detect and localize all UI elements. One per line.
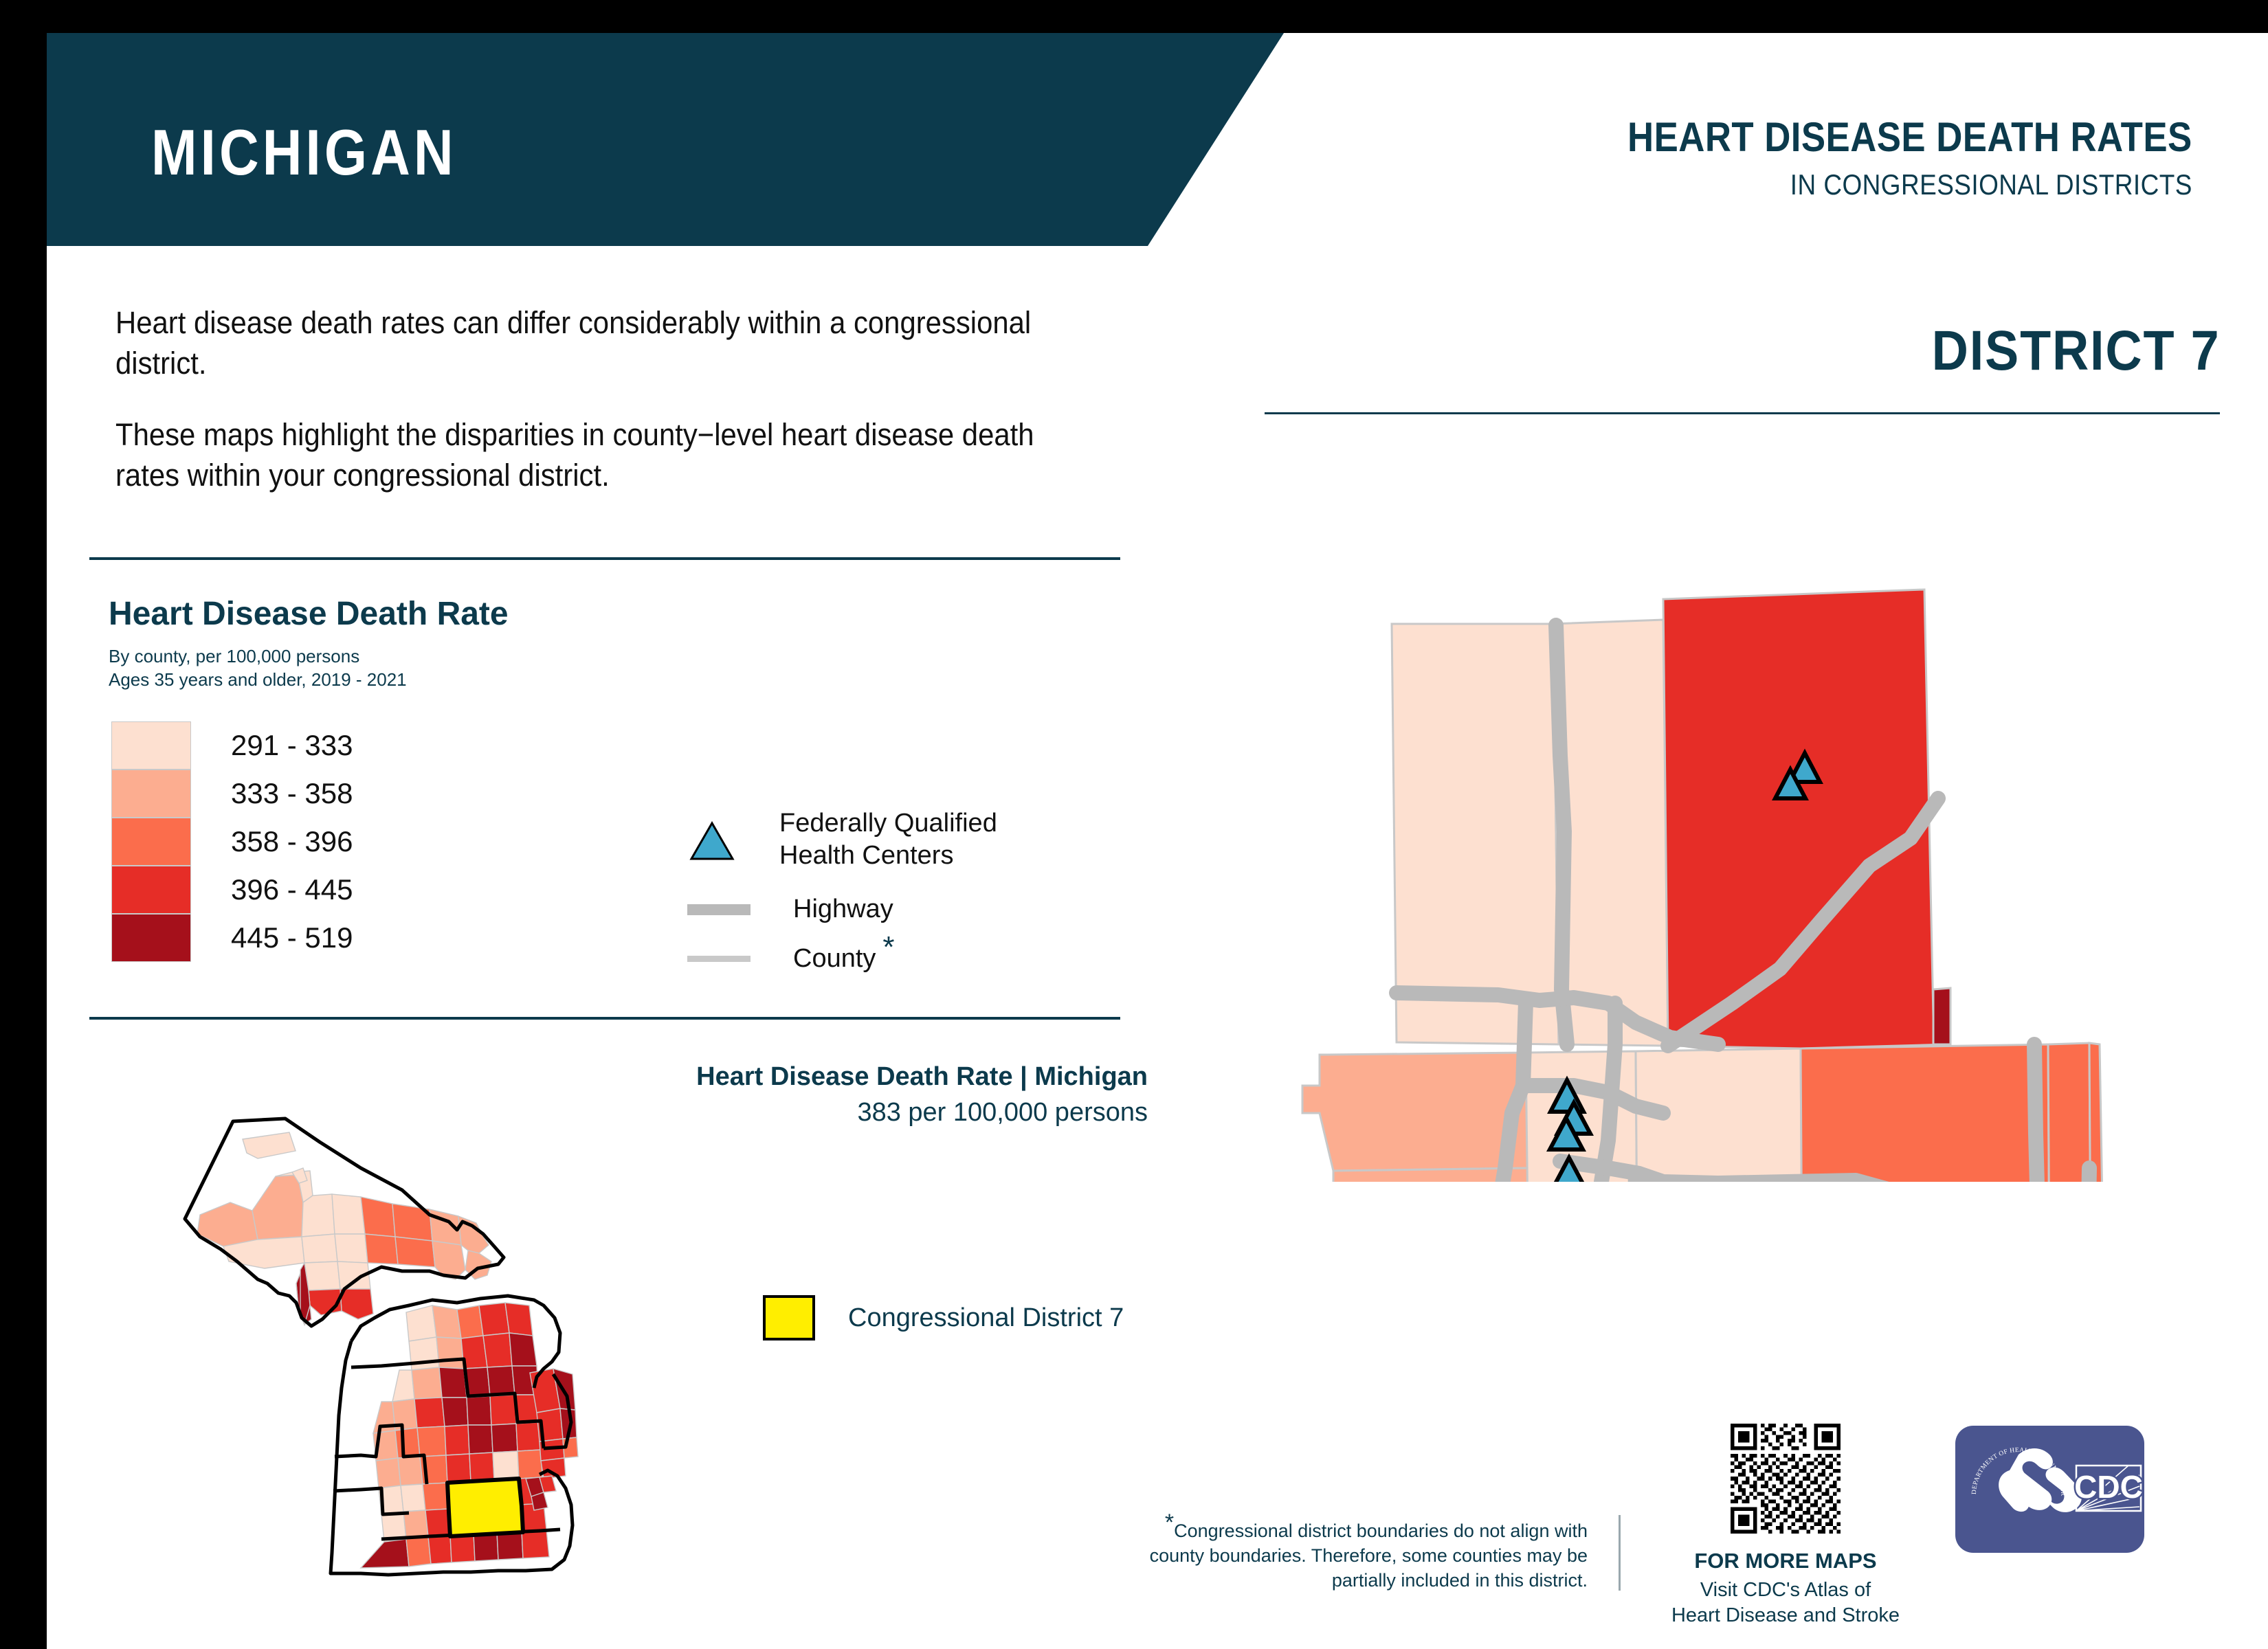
frame-left-bar <box>0 0 47 1649</box>
legend-subtitle-line-2: Ages 35 years and older, 2019 - 2021 <box>109 668 407 691</box>
county-polygon <box>406 1536 431 1567</box>
svg-text:CDC: CDC <box>2074 1469 2143 1505</box>
hhs-cdc-logo: DEPARTMENT OF HEALTH & HUMAN SERVICES·US… <box>1955 1426 2144 1553</box>
county-polygon <box>483 1333 512 1367</box>
legend-highway-label: Highway <box>793 893 893 926</box>
county-polygon <box>468 1425 493 1454</box>
county-polygon <box>332 1194 365 1234</box>
county-polygon <box>516 1422 541 1451</box>
state-rate-title: Heart Disease Death Rate | Michigan <box>696 1064 1148 1090</box>
legend-subtitle-line-1: By county, per 100,000 persons <box>109 644 407 668</box>
footnote-star-icon: * <box>882 930 894 964</box>
county-polygon <box>398 1457 423 1485</box>
county-polygon <box>401 1484 425 1512</box>
legend-county-label: County* <box>793 943 895 975</box>
state-name: MICHIGAN <box>151 120 457 185</box>
county-polygon <box>409 1337 439 1370</box>
county-polygon <box>541 1458 566 1479</box>
footnote-divider <box>1619 1515 1621 1591</box>
legend-swatch-list: 291 - 333 333 - 358 358 - 396 396 - 445 … <box>111 721 353 962</box>
county-polygon <box>340 1289 373 1319</box>
legend-fqhc-line-1: Federally Qualified <box>779 809 997 838</box>
legend-swatch-label: 396 - 445 <box>231 875 353 904</box>
divider-bottom <box>89 1017 1120 1020</box>
county-polygon <box>335 1234 368 1263</box>
county-polygon <box>2048 1043 2092 1182</box>
for-more-maps-line-2: Heart Disease and Stroke <box>1655 1603 1916 1628</box>
county-polygon <box>423 1483 449 1510</box>
county-polygon <box>487 1366 515 1396</box>
district-map[interactable] <box>1251 563 2213 1182</box>
page-title: HEART DISEASE DEATH RATES <box>1627 117 2192 158</box>
state-rate-value: 383 per 100,000 persons <box>857 1099 1148 1125</box>
county-polygon <box>302 1234 337 1263</box>
county-polygon <box>491 1424 518 1452</box>
legend-swatch-row: 358 - 396 <box>111 818 353 866</box>
county-polygon <box>417 1426 446 1457</box>
legend-swatch-row: 333 - 358 <box>111 770 353 818</box>
legend-fqhc-line-2: Health Centers <box>779 841 953 870</box>
intro-paragraph-2: These maps highlight the disparities in … <box>115 414 1074 496</box>
legend-fqhc-label: Federally Qualified Health Centers <box>779 807 997 872</box>
county-polygon <box>304 1261 340 1290</box>
county-polygon <box>1292 1168 1531 1182</box>
legend-swatch-color <box>111 914 191 962</box>
county-polygon <box>1801 1044 2051 1182</box>
footnote: *Congressional district boundaries do no… <box>1148 1518 1588 1593</box>
county-polygon <box>1933 988 1950 1044</box>
county-polygon <box>493 1451 519 1480</box>
county-polygon <box>395 1237 435 1267</box>
county-polygon <box>469 1452 494 1481</box>
district-title: DISTRICT 7 <box>1931 323 2220 379</box>
county-polygon <box>445 1425 469 1455</box>
legend-subtitle: By county, per 100,000 persons Ages 35 y… <box>109 644 407 692</box>
county-polygon <box>365 1234 398 1264</box>
state-inset-map[interactable] <box>155 1099 581 1594</box>
county-polygon <box>1663 590 1947 1048</box>
legend-swatch-row: 291 - 333 <box>111 721 353 770</box>
county-polygon <box>376 1458 401 1488</box>
congressional-district-legend: Congressional District 7 <box>763 1295 1124 1340</box>
county-polygon <box>406 1305 436 1341</box>
highlighted-district <box>447 1479 523 1536</box>
county-polygon <box>392 1204 432 1241</box>
triangle-icon <box>687 820 737 859</box>
legend-county-text: County <box>793 944 876 973</box>
footnote-text: Congressional district boundaries do not… <box>1150 1521 1588 1591</box>
legend-title: Heart Disease Death Rate <box>109 598 509 631</box>
legend-swatch-label: 291 - 333 <box>231 731 353 760</box>
county-polygon <box>439 1367 467 1398</box>
county-polygon <box>412 1367 442 1399</box>
for-more-maps-subtitle: Visit CDC's Atlas of Heart Disease and S… <box>1655 1578 1916 1628</box>
county-polygon <box>509 1333 537 1366</box>
legend-fqhc: Federally Qualified Health Centers <box>687 807 997 872</box>
divider-district <box>1265 412 2220 414</box>
legend-swatch-row: 445 - 519 <box>111 914 353 962</box>
county-polygon <box>361 1197 395 1237</box>
county-polygon <box>467 1396 491 1425</box>
legend-highway: Highway <box>687 893 893 926</box>
legend-county: County* <box>687 943 895 975</box>
county-polygon <box>361 1539 409 1568</box>
county-polygon <box>2089 1043 2166 1182</box>
legend-swatch-color <box>111 770 191 818</box>
county-polygon <box>490 1395 516 1425</box>
legend-swatch-label: 333 - 358 <box>231 779 353 808</box>
frame-top-bar <box>0 0 2268 33</box>
district-color-swatch <box>763 1295 815 1340</box>
county-polygon <box>252 1175 303 1239</box>
county-polygon <box>505 1303 533 1336</box>
county-polygon <box>442 1398 468 1426</box>
county-polygon <box>446 1454 471 1483</box>
county-polygon <box>1392 624 1559 1044</box>
county-polygon <box>436 1337 464 1369</box>
county-polygon <box>518 1450 542 1479</box>
qr-code-icon[interactable] <box>1731 1424 1841 1534</box>
county-polygon <box>373 1402 395 1433</box>
county-polygon <box>395 1428 420 1458</box>
legend-swatch-color <box>111 866 191 914</box>
county-line-icon <box>687 956 751 962</box>
county-polygon <box>392 1370 414 1402</box>
for-more-maps-title: FOR MORE MAPS <box>1682 1550 1889 1571</box>
district-legend-label: Congressional District 7 <box>848 1305 1124 1331</box>
legend-swatch-label: 445 - 519 <box>231 923 353 952</box>
intro-paragraph-1: Heart disease death rates can differ con… <box>115 302 1074 384</box>
legend-swatch-color <box>111 818 191 866</box>
legend-swatch-label: 358 - 396 <box>231 827 353 856</box>
county-polygon <box>243 1132 296 1158</box>
county-polygon <box>425 1509 450 1536</box>
intro-text: Heart disease death rates can differ con… <box>115 302 1074 496</box>
county-polygon <box>428 1535 452 1564</box>
legend-swatch-color <box>111 721 191 770</box>
county-polygon <box>479 1303 509 1336</box>
county-polygon <box>1302 1053 1528 1171</box>
for-more-maps-line-1: Visit CDC's Atlas of <box>1655 1578 1916 1603</box>
county-polygon <box>302 1194 335 1237</box>
county-polygon <box>522 1529 549 1558</box>
divider-top <box>89 557 1120 560</box>
county-polygon <box>414 1398 445 1428</box>
footnote-star: * <box>1165 1510 1174 1536</box>
page-subtitle: IN CONGRESSIONAL DISTRICTS <box>1790 170 2192 199</box>
legend-swatch-row: 396 - 445 <box>111 866 353 914</box>
highway-line-icon <box>687 904 751 915</box>
